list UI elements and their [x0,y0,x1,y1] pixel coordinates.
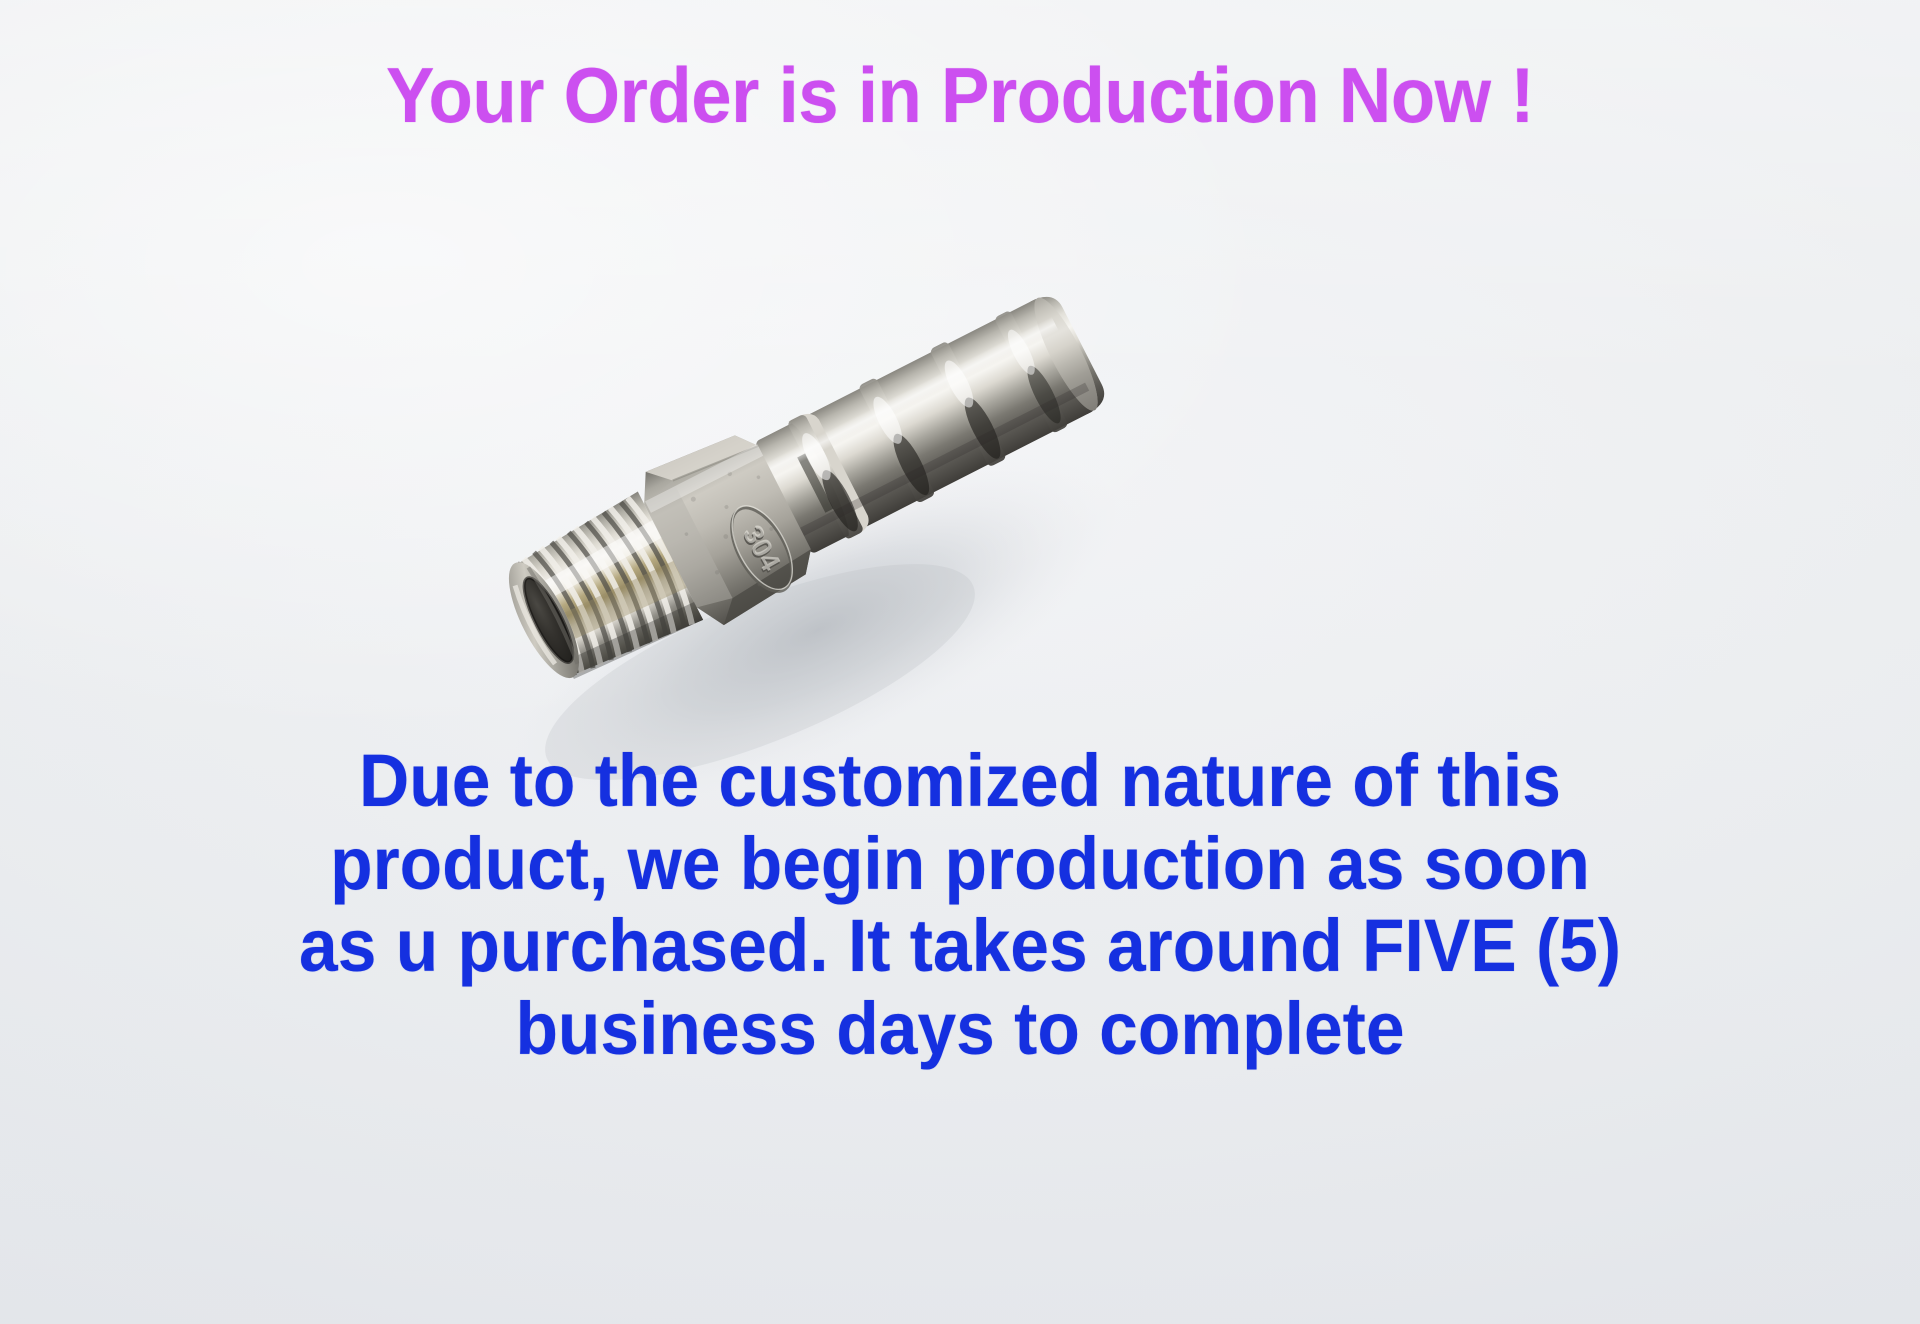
threaded-npt-section [511,492,703,685]
hose-barb-fitting-illustration: 304 304 [0,0,1920,1324]
svg-text:304: 304 [736,522,786,578]
notice-line-2: product, we begin production as soon [58,823,1863,906]
notice-line-4: business days to complete [58,988,1863,1071]
hose-barb-section [753,287,1112,557]
notice-line-1: Due to the customized nature of this [58,740,1863,823]
banner-canvas: Your Order is in Production Now ! [0,0,1920,1324]
notice-line-3: as u purchased. It takes around FIVE (5) [58,905,1863,988]
product-photo: 304 304 [0,0,1920,1324]
pipe-open-end [495,553,592,687]
svg-text:304: 304 [737,520,787,576]
hex-flange: 304 304 [631,421,823,632]
headline-your-order-in-production: Your Order is in Production Now ! [67,56,1853,134]
production-notice-text: Due to the customized nature of this pro… [58,740,1863,1070]
material-grade-stamp: 304 304 [719,496,806,601]
background-vignette [0,0,1920,1324]
